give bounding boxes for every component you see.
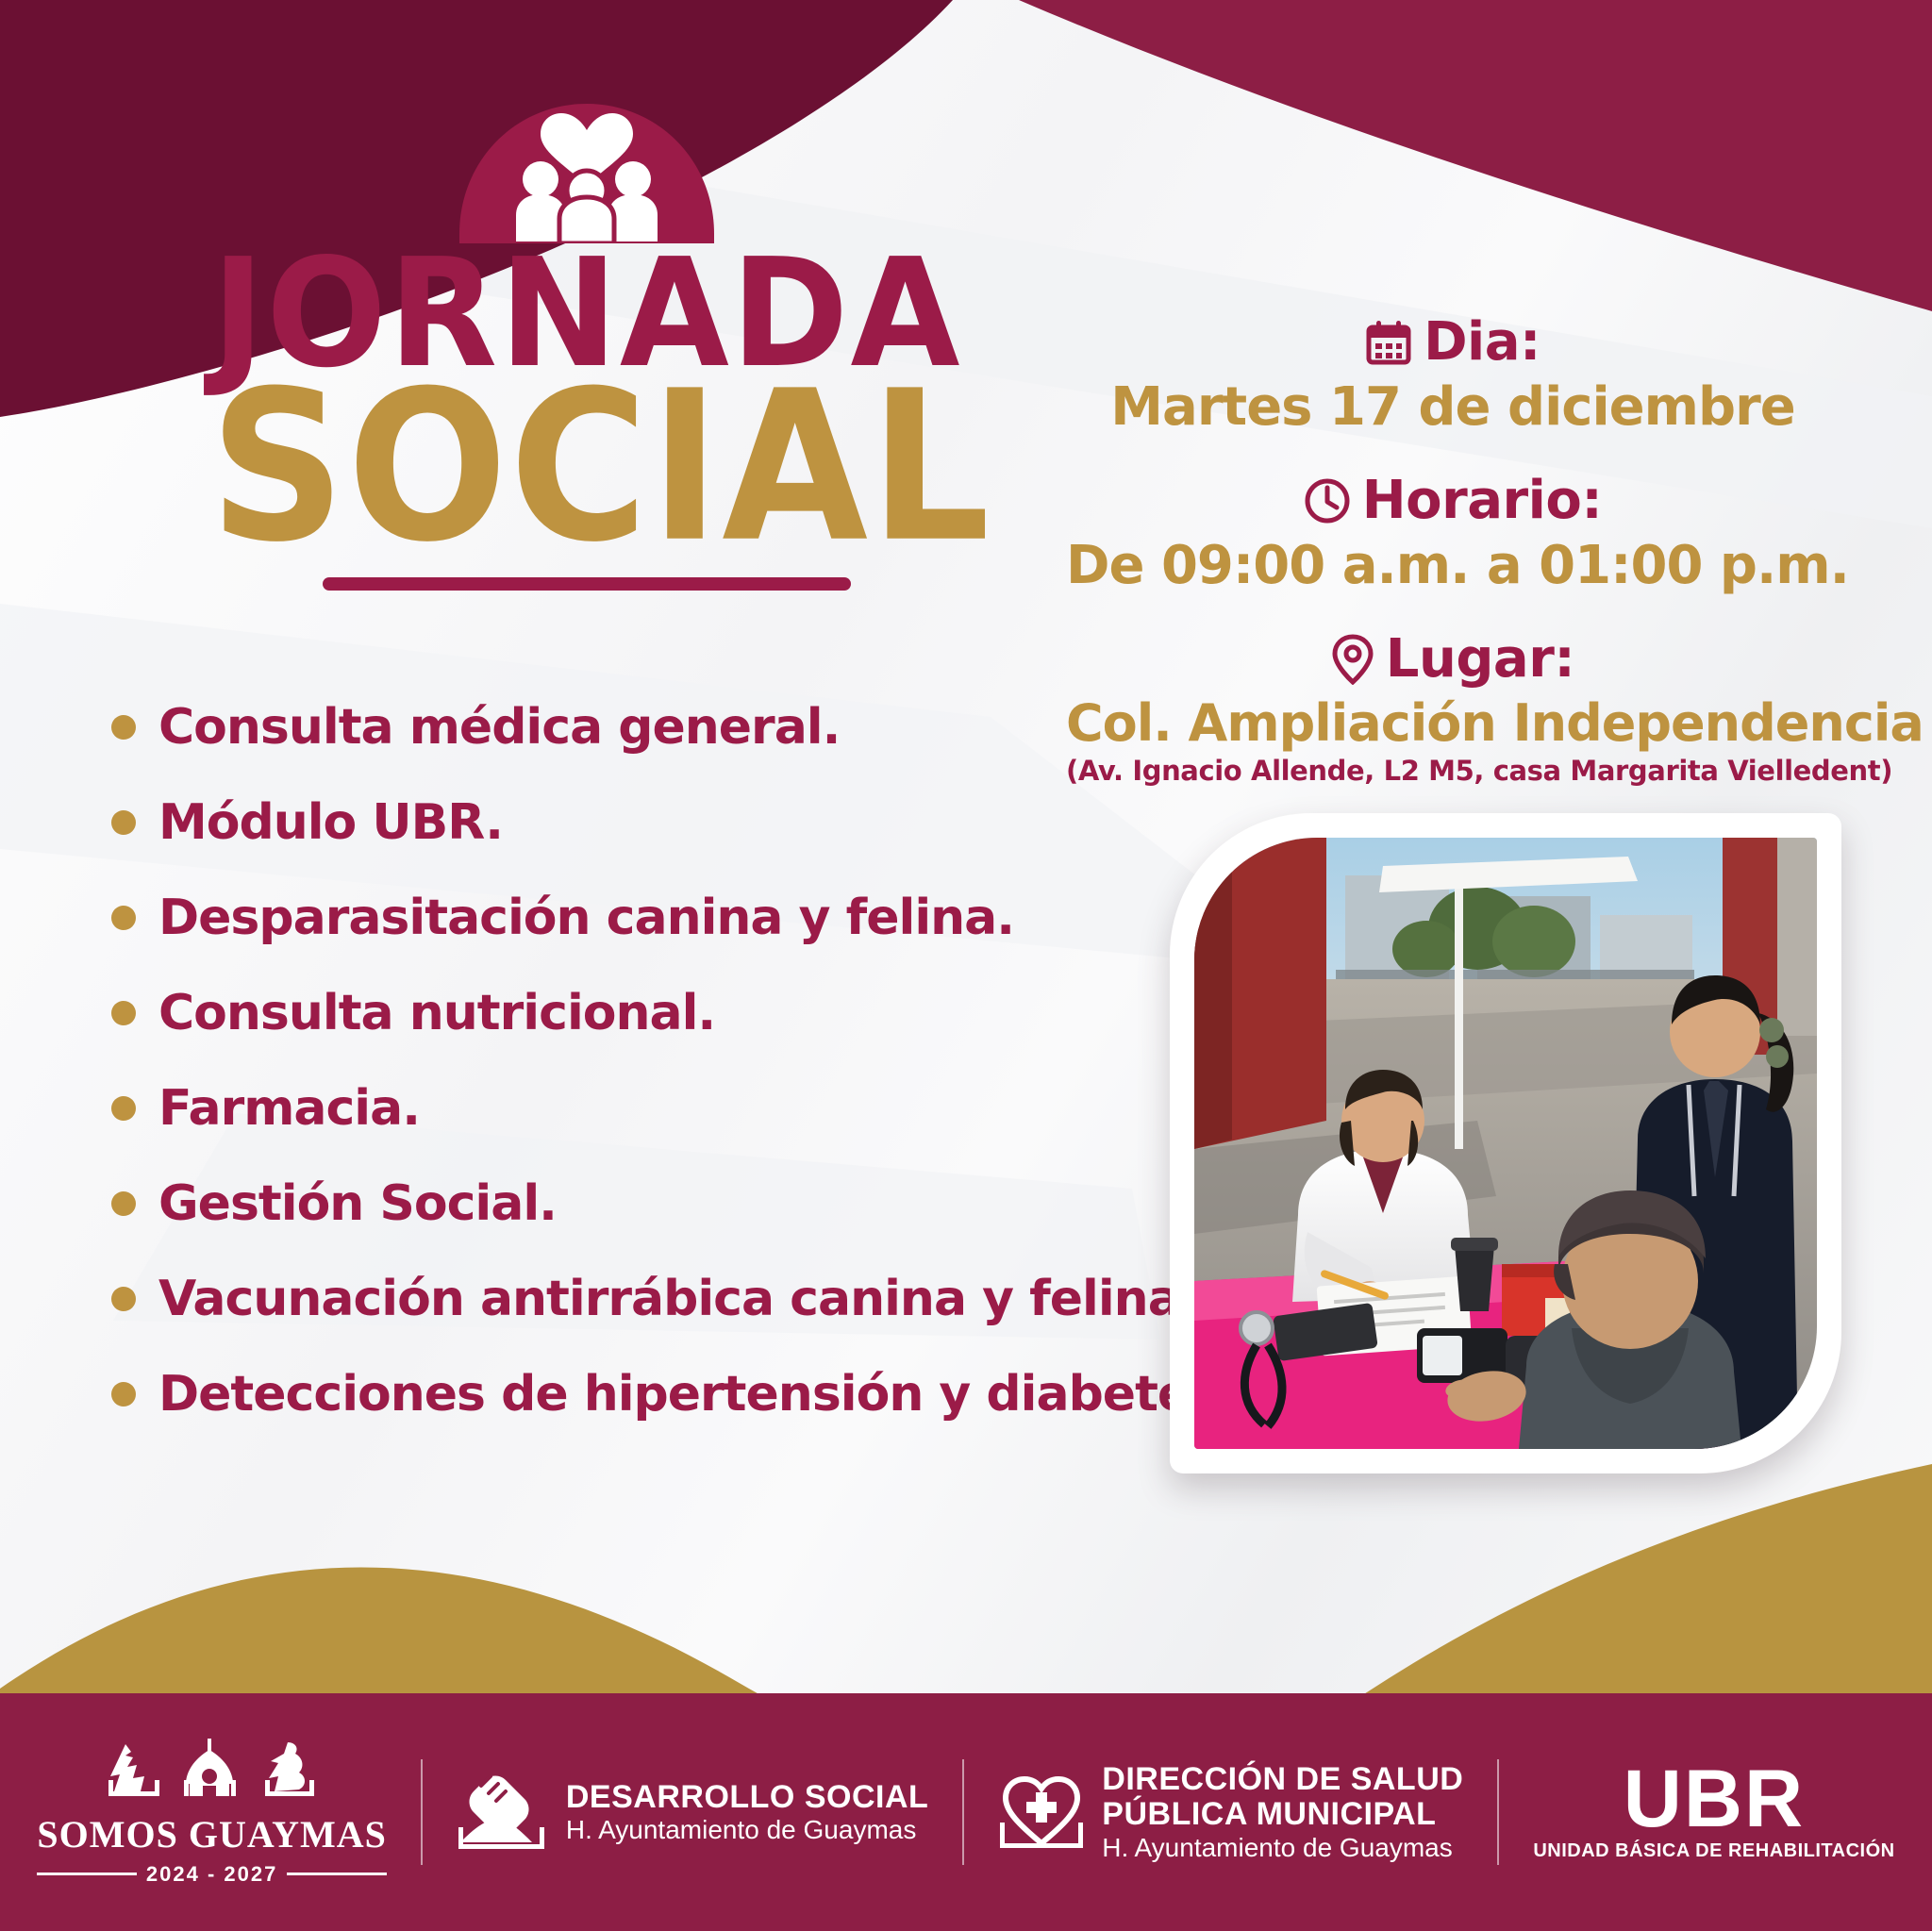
services-list: Consulta médica general. Módulo UBR. Des… — [111, 679, 1168, 1441]
bullet-icon — [111, 715, 136, 740]
logo-block: JORNADA SOCIAL — [209, 102, 964, 591]
years-text: 2024 - 2027 — [146, 1862, 277, 1887]
day-value: Martes 17 de diciembre — [1066, 376, 1840, 438]
photo-card — [1170, 813, 1841, 1473]
list-item: Vacunación antirrábica canina y felina. — [111, 1251, 1168, 1346]
bullet-icon — [111, 906, 136, 930]
place-value: Col. Ampliación Independencia — [1066, 693, 1840, 753]
bullet-icon — [111, 1191, 136, 1216]
family-heart-dome-icon — [459, 102, 714, 243]
list-item: Módulo UBR. — [111, 774, 1168, 870]
bullet-icon — [111, 810, 136, 835]
calendar-icon — [1365, 319, 1412, 366]
salud-title-line2: PÚBLICA MUNICIPAL — [1102, 1797, 1463, 1832]
place-address: (Av. Ignacio Allende, L2 M5, casa Margar… — [1066, 755, 1840, 787]
somos-guaymas-word: SOMOS GUAYMAS — [37, 1812, 386, 1856]
service-label: Detecciones de hipertensión y diabetes. — [158, 1366, 1236, 1423]
direccion-salud-logo: DIRECCIÓN DE SALUD PÚBLICA MUNICIPAL H. … — [964, 1762, 1497, 1862]
title-social: SOCIAL — [209, 375, 964, 561]
somos-guaymas-years: 2024 - 2027 — [37, 1862, 386, 1887]
ubr-subtitle: UNIDAD BÁSICA DE REHABILITACIÓN — [1533, 1840, 1894, 1862]
list-item: Consulta médica general. — [111, 679, 1168, 774]
footer-logos: SOMOS GUAYMAS 2024 - 2027 DESARROLLO S — [0, 1693, 1932, 1931]
handshake-icon — [457, 1773, 549, 1852]
heart-cross-icon — [998, 1772, 1085, 1853]
day-label: Dia: — [1424, 311, 1541, 373]
map-pin-icon — [1331, 634, 1374, 685]
salud-subtitle: H. Ayuntamiento de Guaymas — [1102, 1834, 1463, 1862]
service-label: Vacunación antirrábica canina y felina. — [158, 1271, 1198, 1327]
service-label: Gestión Social. — [158, 1175, 557, 1232]
guaymas-monuments-icon — [99, 1739, 325, 1806]
salud-title-line1: DIRECCIÓN DE SALUD — [1102, 1762, 1463, 1797]
service-label: Consulta nutricional. — [158, 985, 715, 1041]
bullet-icon — [111, 1001, 136, 1025]
bullet-icon — [111, 1287, 136, 1311]
list-item: Detecciones de hipertensión y diabetes. — [111, 1346, 1168, 1441]
bullet-icon — [111, 1382, 136, 1407]
desarrollo-social-logo: DESARROLLO SOCIAL H. Ayuntamiento de Gua… — [423, 1773, 962, 1852]
list-item: Consulta nutricional. — [111, 965, 1168, 1060]
place-heading: Lugar: — [1066, 628, 1840, 690]
service-label: Módulo UBR. — [158, 794, 503, 851]
day-heading: Dia: — [1066, 311, 1840, 373]
place-label: Lugar: — [1386, 628, 1574, 690]
clock-icon — [1304, 477, 1351, 524]
bullet-icon — [111, 1096, 136, 1121]
ubr-letters: UBR — [1624, 1762, 1805, 1837]
event-info-block: Dia: Martes 17 de diciembre Horario: De … — [1066, 311, 1840, 787]
schedule-value: De 09:00 a.m. a 01:00 p.m. — [1066, 535, 1840, 596]
service-label: Desparasitación canina y felina. — [158, 890, 1014, 946]
list-item: Gestión Social. — [111, 1156, 1168, 1251]
ubr-logo: UBR UNIDAD BÁSICA DE REHABILITACIÓN — [1499, 1762, 1928, 1862]
list-item: Desparasitación canina y felina. — [111, 870, 1168, 965]
desarrollo-title: DESARROLLO SOCIAL — [566, 1780, 928, 1815]
list-item: Farmacia. — [111, 1060, 1168, 1156]
schedule-label: Horario: — [1362, 470, 1602, 531]
schedule-heading: Horario: — [1066, 470, 1840, 531]
service-label: Consulta médica general. — [158, 699, 840, 756]
poster-canvas: JORNADA SOCIAL Dia: Martes 17 de diciemb… — [0, 0, 1932, 1931]
service-label: Farmacia. — [158, 1080, 420, 1137]
desarrollo-subtitle: H. Ayuntamiento de Guaymas — [566, 1816, 928, 1844]
spacer — [1066, 596, 1840, 628]
somos-guaymas-logo: SOMOS GUAYMAS 2024 - 2027 — [3, 1739, 420, 1887]
spacer — [1066, 438, 1840, 470]
event-photo — [1194, 838, 1817, 1449]
